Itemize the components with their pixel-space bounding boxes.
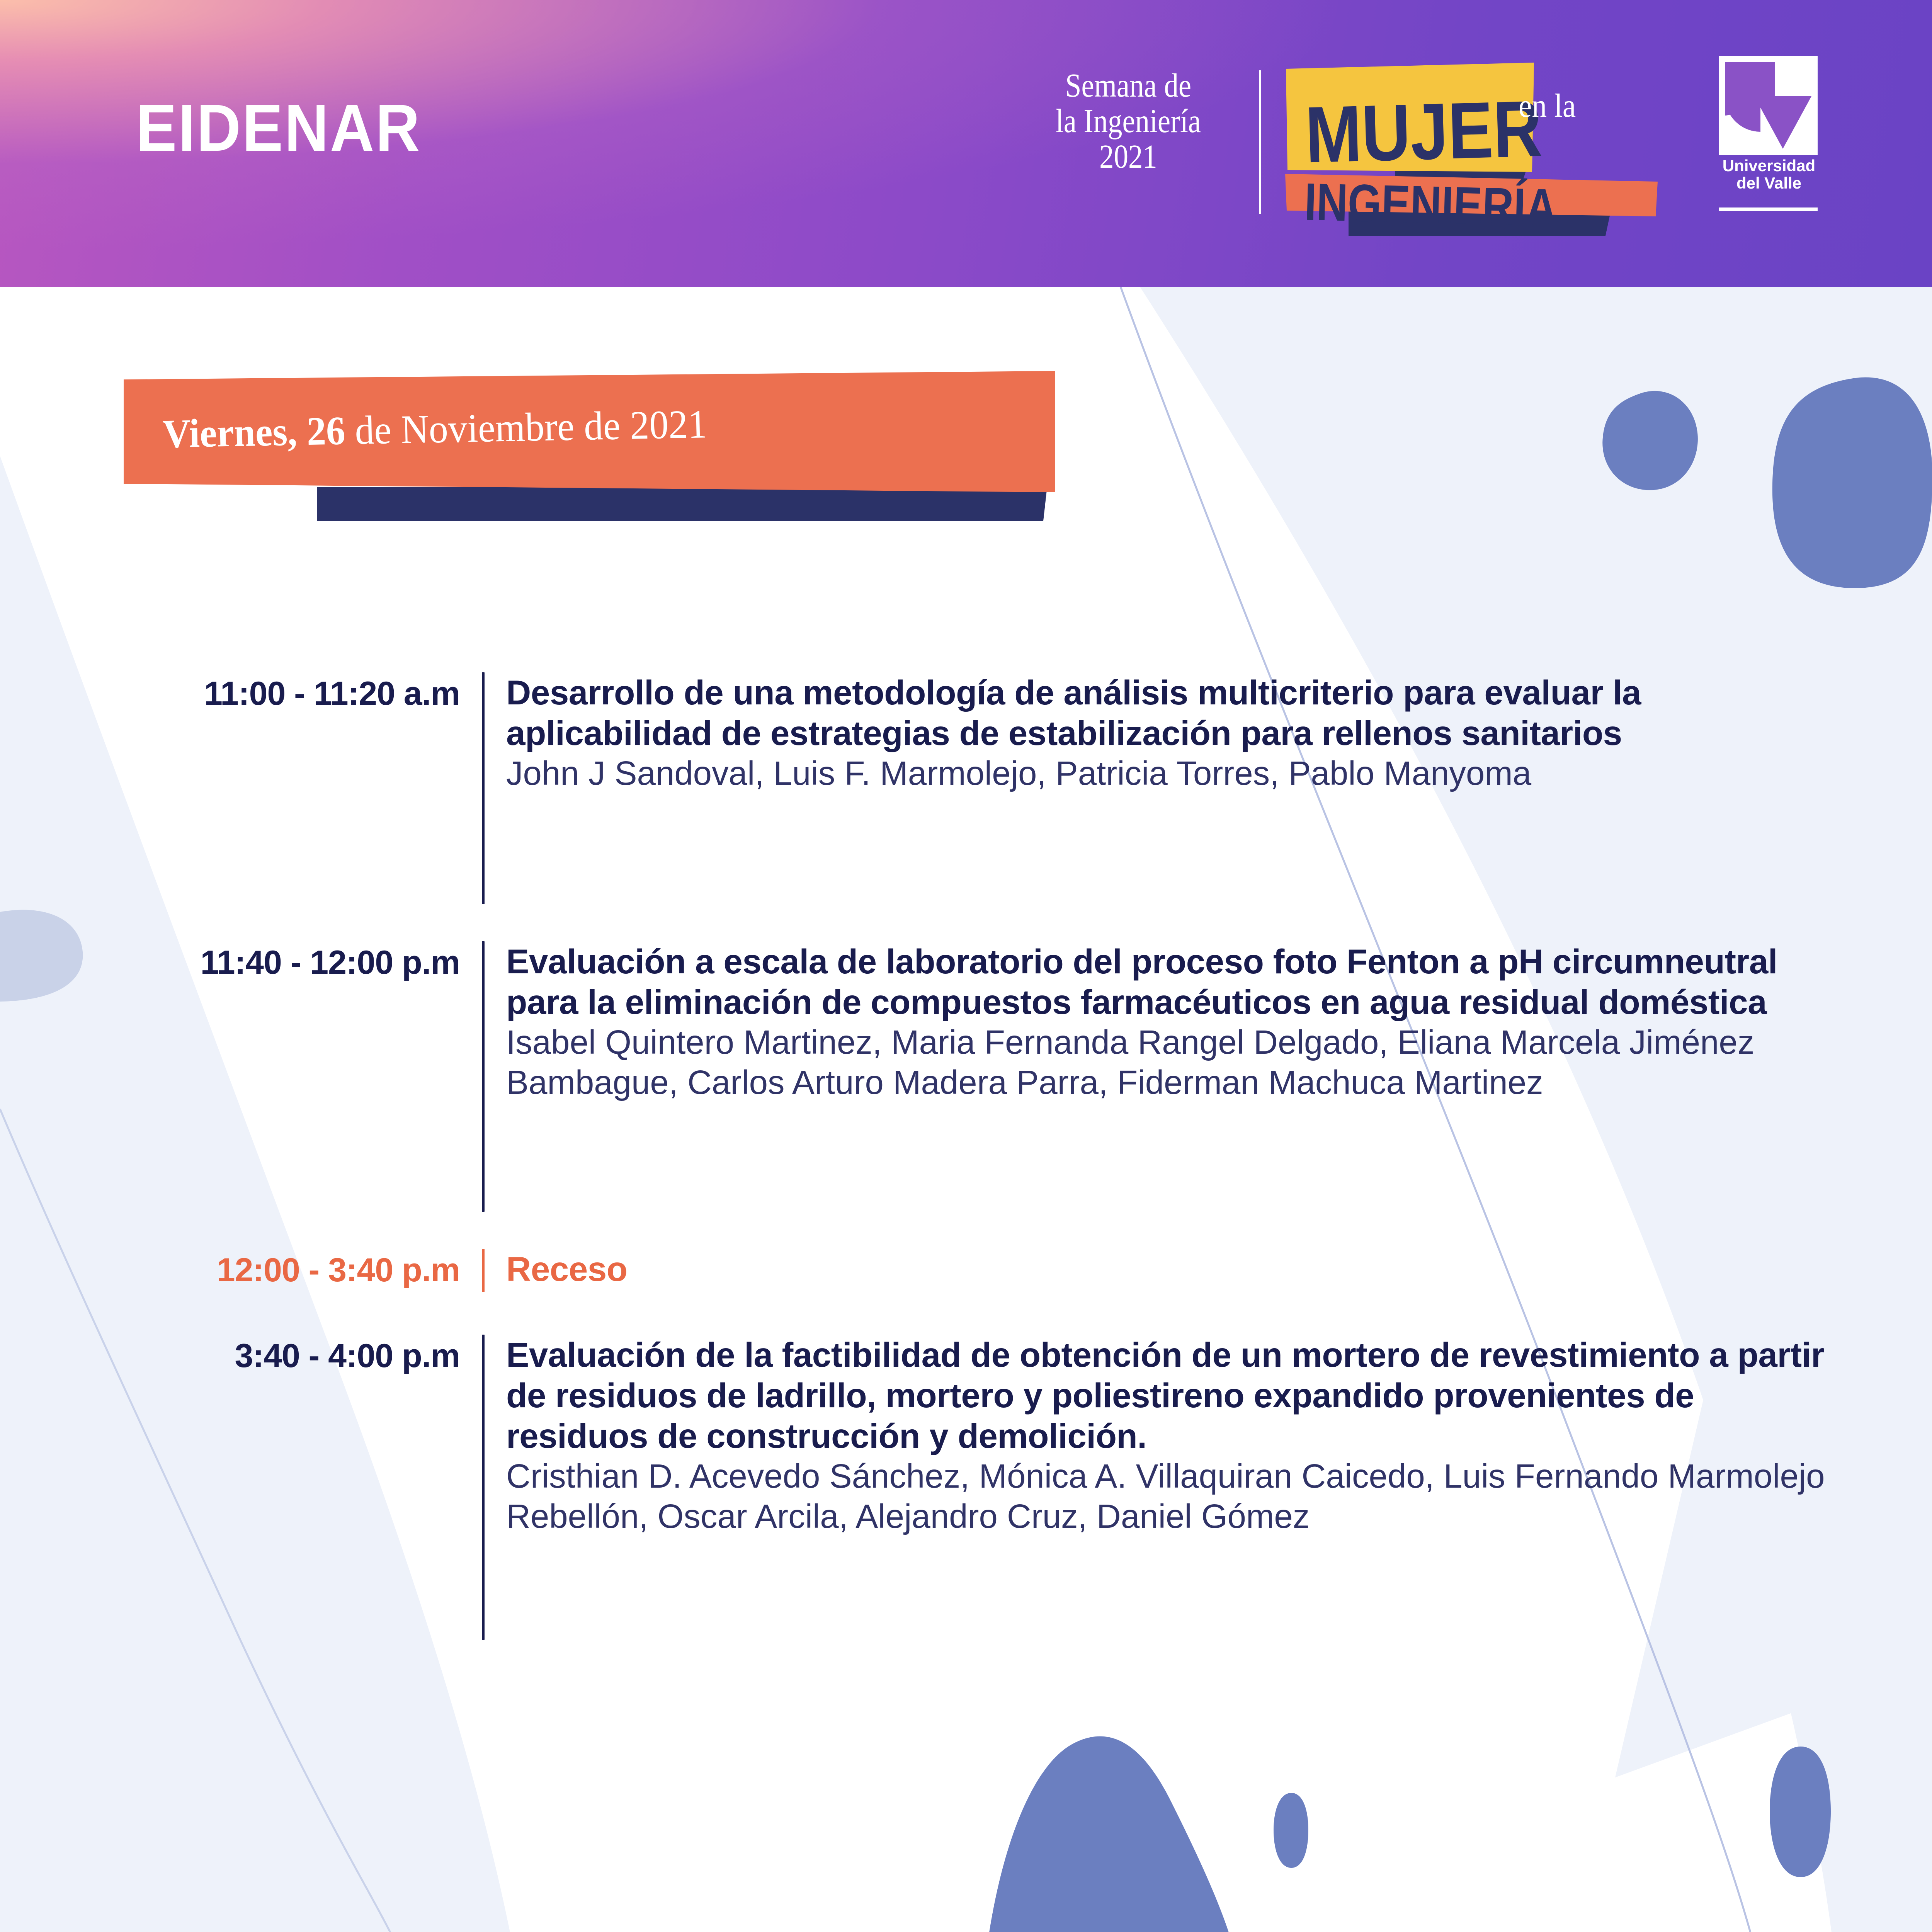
schedule-title: Desarrollo de una metodología de análisi… — [506, 672, 1832, 753]
schedule-row[interactable]: 11:00 - 11:20 a.m Desarrollo de una meto… — [0, 672, 1932, 904]
schedule-body: Receso — [506, 1249, 1932, 1289]
event-name-line1: Semana de — [1065, 66, 1191, 104]
blob-right-tall — [1770, 1747, 1831, 1877]
blob-small-lower — [1274, 1793, 1308, 1868]
date-banner-shadow — [317, 487, 1047, 521]
logo-word-mujer: MUJER — [1304, 84, 1543, 180]
univalle-underline — [1719, 207, 1818, 211]
event-year: 2021 — [1019, 139, 1238, 174]
univalle-name: Universidad del Valle — [1701, 157, 1837, 192]
logo-word-en-la: en la — [1519, 89, 1576, 122]
univalle-name-line2: del Valle — [1736, 174, 1801, 192]
date-day: 26 — [306, 408, 346, 454]
schedule-list: 11:00 - 11:20 a.m Desarrollo de una meto… — [0, 672, 1932, 1640]
date-rest: de Noviembre de 2021 — [345, 401, 707, 453]
schedule-row-break[interactable]: 12:00 - 3:40 p.m Receso — [0, 1249, 1932, 1292]
schedule-body: Evaluación a escala de laboratorio del p… — [506, 941, 1932, 1103]
row-divider — [460, 672, 506, 904]
univalle-mark — [1719, 56, 1818, 155]
schedule-row[interactable]: 11:40 - 12:00 p.m Evaluación a escala de… — [0, 941, 1932, 1212]
header-separator-rule — [1259, 70, 1261, 214]
schedule-time: 12:00 - 3:40 p.m — [0, 1249, 460, 1289]
schedule-time: 11:00 - 11:20 a.m — [0, 672, 460, 713]
logo-word-ingenieria: INGENIERÍA — [1304, 172, 1558, 236]
header-bar: EIDENAR Semana de la Ingeniería 2021 MUJ… — [0, 0, 1932, 287]
schedule-title: Receso — [506, 1249, 1832, 1289]
row-divider — [460, 1335, 506, 1640]
event-name-line2: la Ingeniería — [1056, 102, 1201, 139]
schedule-authors: Cristhian D. Acevedo Sánchez, Mónica A. … — [506, 1456, 1832, 1537]
blob-top-right-large — [1772, 377, 1932, 588]
date-banner: Viernes, 26 de Noviembre de 2021 — [116, 371, 1063, 526]
schedule-title: Evaluación de la factibilidad de obtenci… — [506, 1335, 1832, 1456]
blob-bottom-wave — [989, 1736, 1229, 1932]
schedule-time: 11:40 - 12:00 p.m — [0, 941, 460, 982]
univalle-name-line1: Universidad — [1723, 156, 1815, 175]
row-divider — [460, 941, 506, 1212]
schedule-title: Evaluación a escala de laboratorio del p… — [506, 941, 1832, 1022]
poster-canvas: EIDENAR Semana de la Ingeniería 2021 MUJ… — [0, 0, 1932, 1932]
brand-title: EIDENAR — [136, 95, 421, 161]
universidad-del-valle-logo: Universidad del Valle — [1701, 56, 1837, 218]
schedule-row[interactable]: 3:40 - 4:00 p.m Evaluación de la factibi… — [0, 1335, 1932, 1640]
mujer-en-la-ingenieria-logo: MUJER INGENIERÍA — [1279, 54, 1669, 236]
schedule-time: 3:40 - 4:00 p.m — [0, 1335, 460, 1375]
logo-shapes: MUJER INGENIERÍA — [1279, 54, 1669, 236]
schedule-authors: Isabel Quintero Martinez, Maria Fernanda… — [506, 1022, 1832, 1103]
event-name: Semana de la Ingeniería 2021 — [1019, 68, 1238, 175]
schedule-body: Evaluación de la factibilidad de obtenci… — [506, 1335, 1932, 1537]
row-divider — [460, 1249, 506, 1292]
date-weekday: Viernes, — [162, 409, 298, 456]
schedule-authors: John J Sandoval, Luis F. Marmolejo, Patr… — [506, 753, 1832, 794]
schedule-body: Desarrollo de una metodología de análisi… — [506, 672, 1932, 794]
